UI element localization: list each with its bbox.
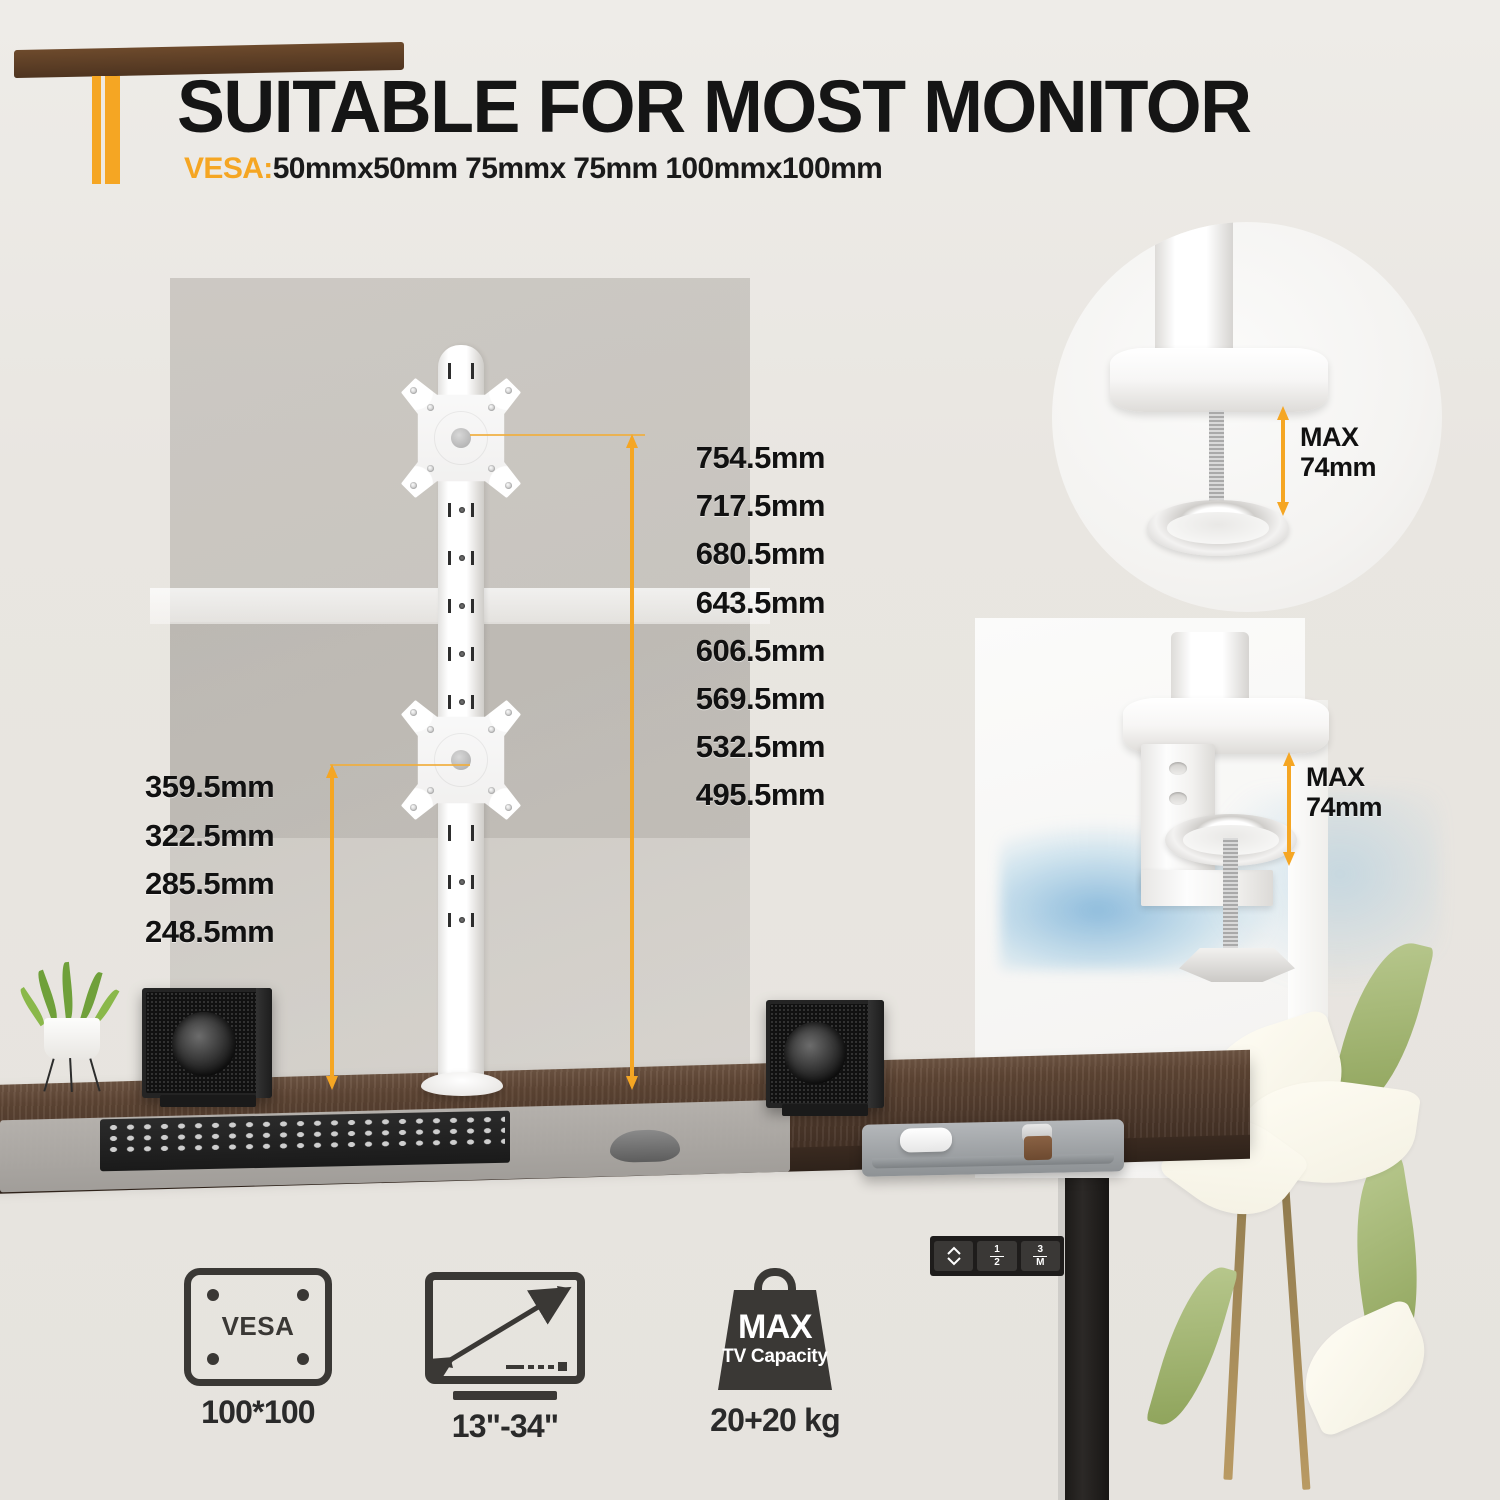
height-label-248: 248.5mm	[145, 914, 274, 950]
mouse	[610, 1129, 680, 1162]
standing-desk-control-panel[interactable]: 1 2 3 M	[930, 1236, 1064, 1276]
keyboard	[100, 1111, 510, 1172]
clamp-arrow-head-down	[1283, 852, 1295, 866]
clamp-knob-foot	[1179, 948, 1295, 982]
vesa-hole-ur-outer	[505, 387, 512, 394]
vesa-prefix-label: VESA:	[184, 152, 273, 185]
desk-leg	[1065, 1178, 1109, 1500]
vesa-plate-upper-hub	[451, 428, 471, 448]
vesa-hole2-ur-inner	[488, 726, 495, 733]
weight-icon-capacity-label: TV Capacity	[710, 1346, 840, 1368]
clamp-max-arrow	[1283, 752, 1295, 866]
vesa-sizes-label: 50mmx50mm 75mmx 75mm 100mmx100mm	[273, 152, 883, 185]
grommet-washer-plate	[1147, 500, 1289, 556]
vesa-icon-badge: VESA	[191, 1311, 325, 1342]
clamp-max-label: MAX 74mm	[1306, 762, 1382, 822]
laptop-base-edge	[872, 1153, 1114, 1168]
vesa-icon-dot-ur	[297, 1289, 309, 1301]
arrow-shaft-lower	[330, 776, 334, 1078]
grommet-max-label: MAX 74mm	[1300, 422, 1376, 482]
vesa-hole-lr-outer	[505, 482, 512, 489]
vesa-plate-lower	[401, 700, 521, 820]
preset-1-label: 1	[994, 1245, 1000, 1255]
pole-slot-10	[448, 875, 474, 889]
clamp-lower-jaw	[1141, 870, 1273, 906]
pole-slot-5	[448, 599, 474, 613]
vesa-icon-dot-lr	[297, 1353, 309, 1365]
vesa-hole2-ll-outer	[410, 804, 417, 811]
speaker-right-base	[782, 1104, 868, 1116]
vesa-plate-upper	[401, 378, 521, 498]
vesa-hole2-ul-inner	[427, 726, 434, 733]
pole-slot-3	[448, 503, 474, 517]
monitor-icon-stand	[453, 1391, 557, 1400]
height-label-569: 569.5mm	[550, 681, 825, 717]
arrow-head-down-lower	[326, 1076, 338, 1090]
weight-icon-max-label: MAX	[710, 1308, 840, 1347]
grommet-max-arrow	[1277, 406, 1289, 516]
vesa-hole2-ul-outer	[410, 709, 417, 716]
speaker-left-side	[256, 988, 272, 1098]
vesa-hole-ur-inner	[488, 404, 495, 411]
feature-icon-row: VESA 100*100	[150, 1268, 910, 1468]
clamp-hole-lower	[1169, 792, 1187, 805]
vesa-plate-lower-hub	[451, 750, 471, 770]
speaker-right	[766, 1000, 884, 1108]
height-label-643: 643.5mm	[550, 585, 825, 621]
pole-slot-11	[448, 913, 474, 927]
preset-button-1-2[interactable]: 1 2	[977, 1241, 1016, 1271]
vesa-hole2-ll-inner	[427, 787, 434, 794]
grommet-arrow-head-down	[1277, 502, 1289, 516]
lily-petal-d	[1286, 1298, 1444, 1439]
preset-m-label: M	[1036, 1258, 1044, 1268]
height-label-680: 680.5mm	[550, 536, 825, 572]
monitor-pole-base	[421, 1072, 503, 1096]
pole-slot-9	[448, 825, 474, 841]
pole-slot-top	[448, 363, 474, 379]
vesa-hole-ul-outer	[410, 387, 417, 394]
preset-3-label: 3	[1038, 1245, 1044, 1255]
clamp-max-word: MAX	[1306, 762, 1382, 792]
pole-slot-4	[448, 551, 474, 565]
grommet-max-word: MAX	[1300, 422, 1376, 452]
vesa-hole-ul-inner	[427, 404, 434, 411]
earbuds-case	[900, 1127, 952, 1152]
feature-screen-size: 13"-34"	[405, 1272, 605, 1445]
grommet-max-value: 74mm	[1300, 452, 1376, 482]
clamp-arrow-shaft	[1287, 764, 1291, 854]
grommet-arrow-shaft	[1281, 418, 1285, 504]
vesa-hole-ll-inner	[427, 465, 434, 472]
leader-line-lower	[330, 764, 470, 766]
vesa-hole-lr-inner	[488, 465, 495, 472]
page-title: SUITABLE FOR MOST MONITOR	[177, 68, 1251, 146]
height-label-754: 754.5mm	[550, 440, 825, 476]
preset-button-3-m[interactable]: 3 M	[1021, 1241, 1060, 1271]
speaker-left	[142, 988, 272, 1098]
vesa-icon-dot-ll	[207, 1353, 219, 1365]
c-clamp-mount-callout	[1105, 632, 1435, 1022]
clamp-hole-upper	[1169, 762, 1187, 775]
height-label-717: 717.5mm	[550, 488, 825, 524]
height-label-532: 532.5mm	[550, 729, 825, 765]
feature-vesa: VESA 100*100	[168, 1268, 348, 1431]
pole-slot-6	[448, 647, 474, 661]
preset-2-label: 2	[994, 1258, 1000, 1268]
feature-vesa-caption: 100*100	[168, 1394, 348, 1431]
leader-line-upper	[470, 434, 645, 436]
monitor-icon-controls	[506, 1362, 567, 1371]
speaker-left-base	[160, 1095, 256, 1107]
vesa-pattern-icon: VESA	[184, 1268, 332, 1386]
vesa-hole2-ur-outer	[505, 709, 512, 716]
lily-stem-second	[1282, 1190, 1311, 1490]
grommet-mount-callout	[1052, 222, 1442, 612]
vesa-subtitle: VESA:50mmx50mm 75mmx 75mm 100mmx100mm	[184, 152, 882, 186]
vesa-hole2-lr-outer	[505, 804, 512, 811]
arrow-head-down-upper	[626, 1076, 638, 1090]
grommet-pole-tube	[1155, 222, 1233, 362]
clamp-threaded-screw	[1223, 838, 1238, 954]
height-label-359: 359.5mm	[145, 769, 274, 805]
height-label-606: 606.5mm	[550, 633, 825, 669]
grommet-cover-flange	[1110, 348, 1328, 412]
updown-chevrons-icon	[946, 1246, 962, 1266]
lily-leaf-lower-left	[1146, 1259, 1238, 1434]
smartwatch-band	[1024, 1136, 1052, 1161]
plant-leaf-1	[60, 962, 75, 1021]
height-label-495: 495.5mm	[550, 777, 825, 813]
feature-capacity: MAX TV Capacity 20+20 kg	[680, 1268, 870, 1439]
desk-plant	[26, 960, 118, 1090]
height-label-322: 322.5mm	[145, 818, 274, 854]
vesa-hole-ll-outer	[410, 482, 417, 489]
product-infographic: 1 2 3 M	[0, 0, 1500, 1500]
speaker-right-side	[868, 1000, 884, 1108]
feature-screen-size-caption: 13"-34"	[405, 1408, 605, 1445]
vesa-hole2-lr-inner	[488, 787, 495, 794]
vesa-icon-dot-ul	[207, 1289, 219, 1301]
height-label-285: 285.5mm	[145, 866, 274, 902]
plant-pot-stand	[46, 1058, 98, 1092]
clamp-max-value: 74mm	[1306, 792, 1382, 822]
height-updown-button[interactable]	[934, 1241, 973, 1271]
plant-pot	[44, 1018, 100, 1060]
accent-bar-icon	[92, 76, 120, 184]
feature-capacity-caption: 20+20 kg	[680, 1402, 870, 1439]
weight-capacity-icon: MAX TV Capacity	[710, 1268, 840, 1390]
speaker-right-driver	[784, 1022, 846, 1084]
monitor-diagonal-icon	[425, 1272, 585, 1384]
speaker-left-driver	[172, 1012, 236, 1076]
height-range-arrow-lower	[326, 764, 338, 1090]
